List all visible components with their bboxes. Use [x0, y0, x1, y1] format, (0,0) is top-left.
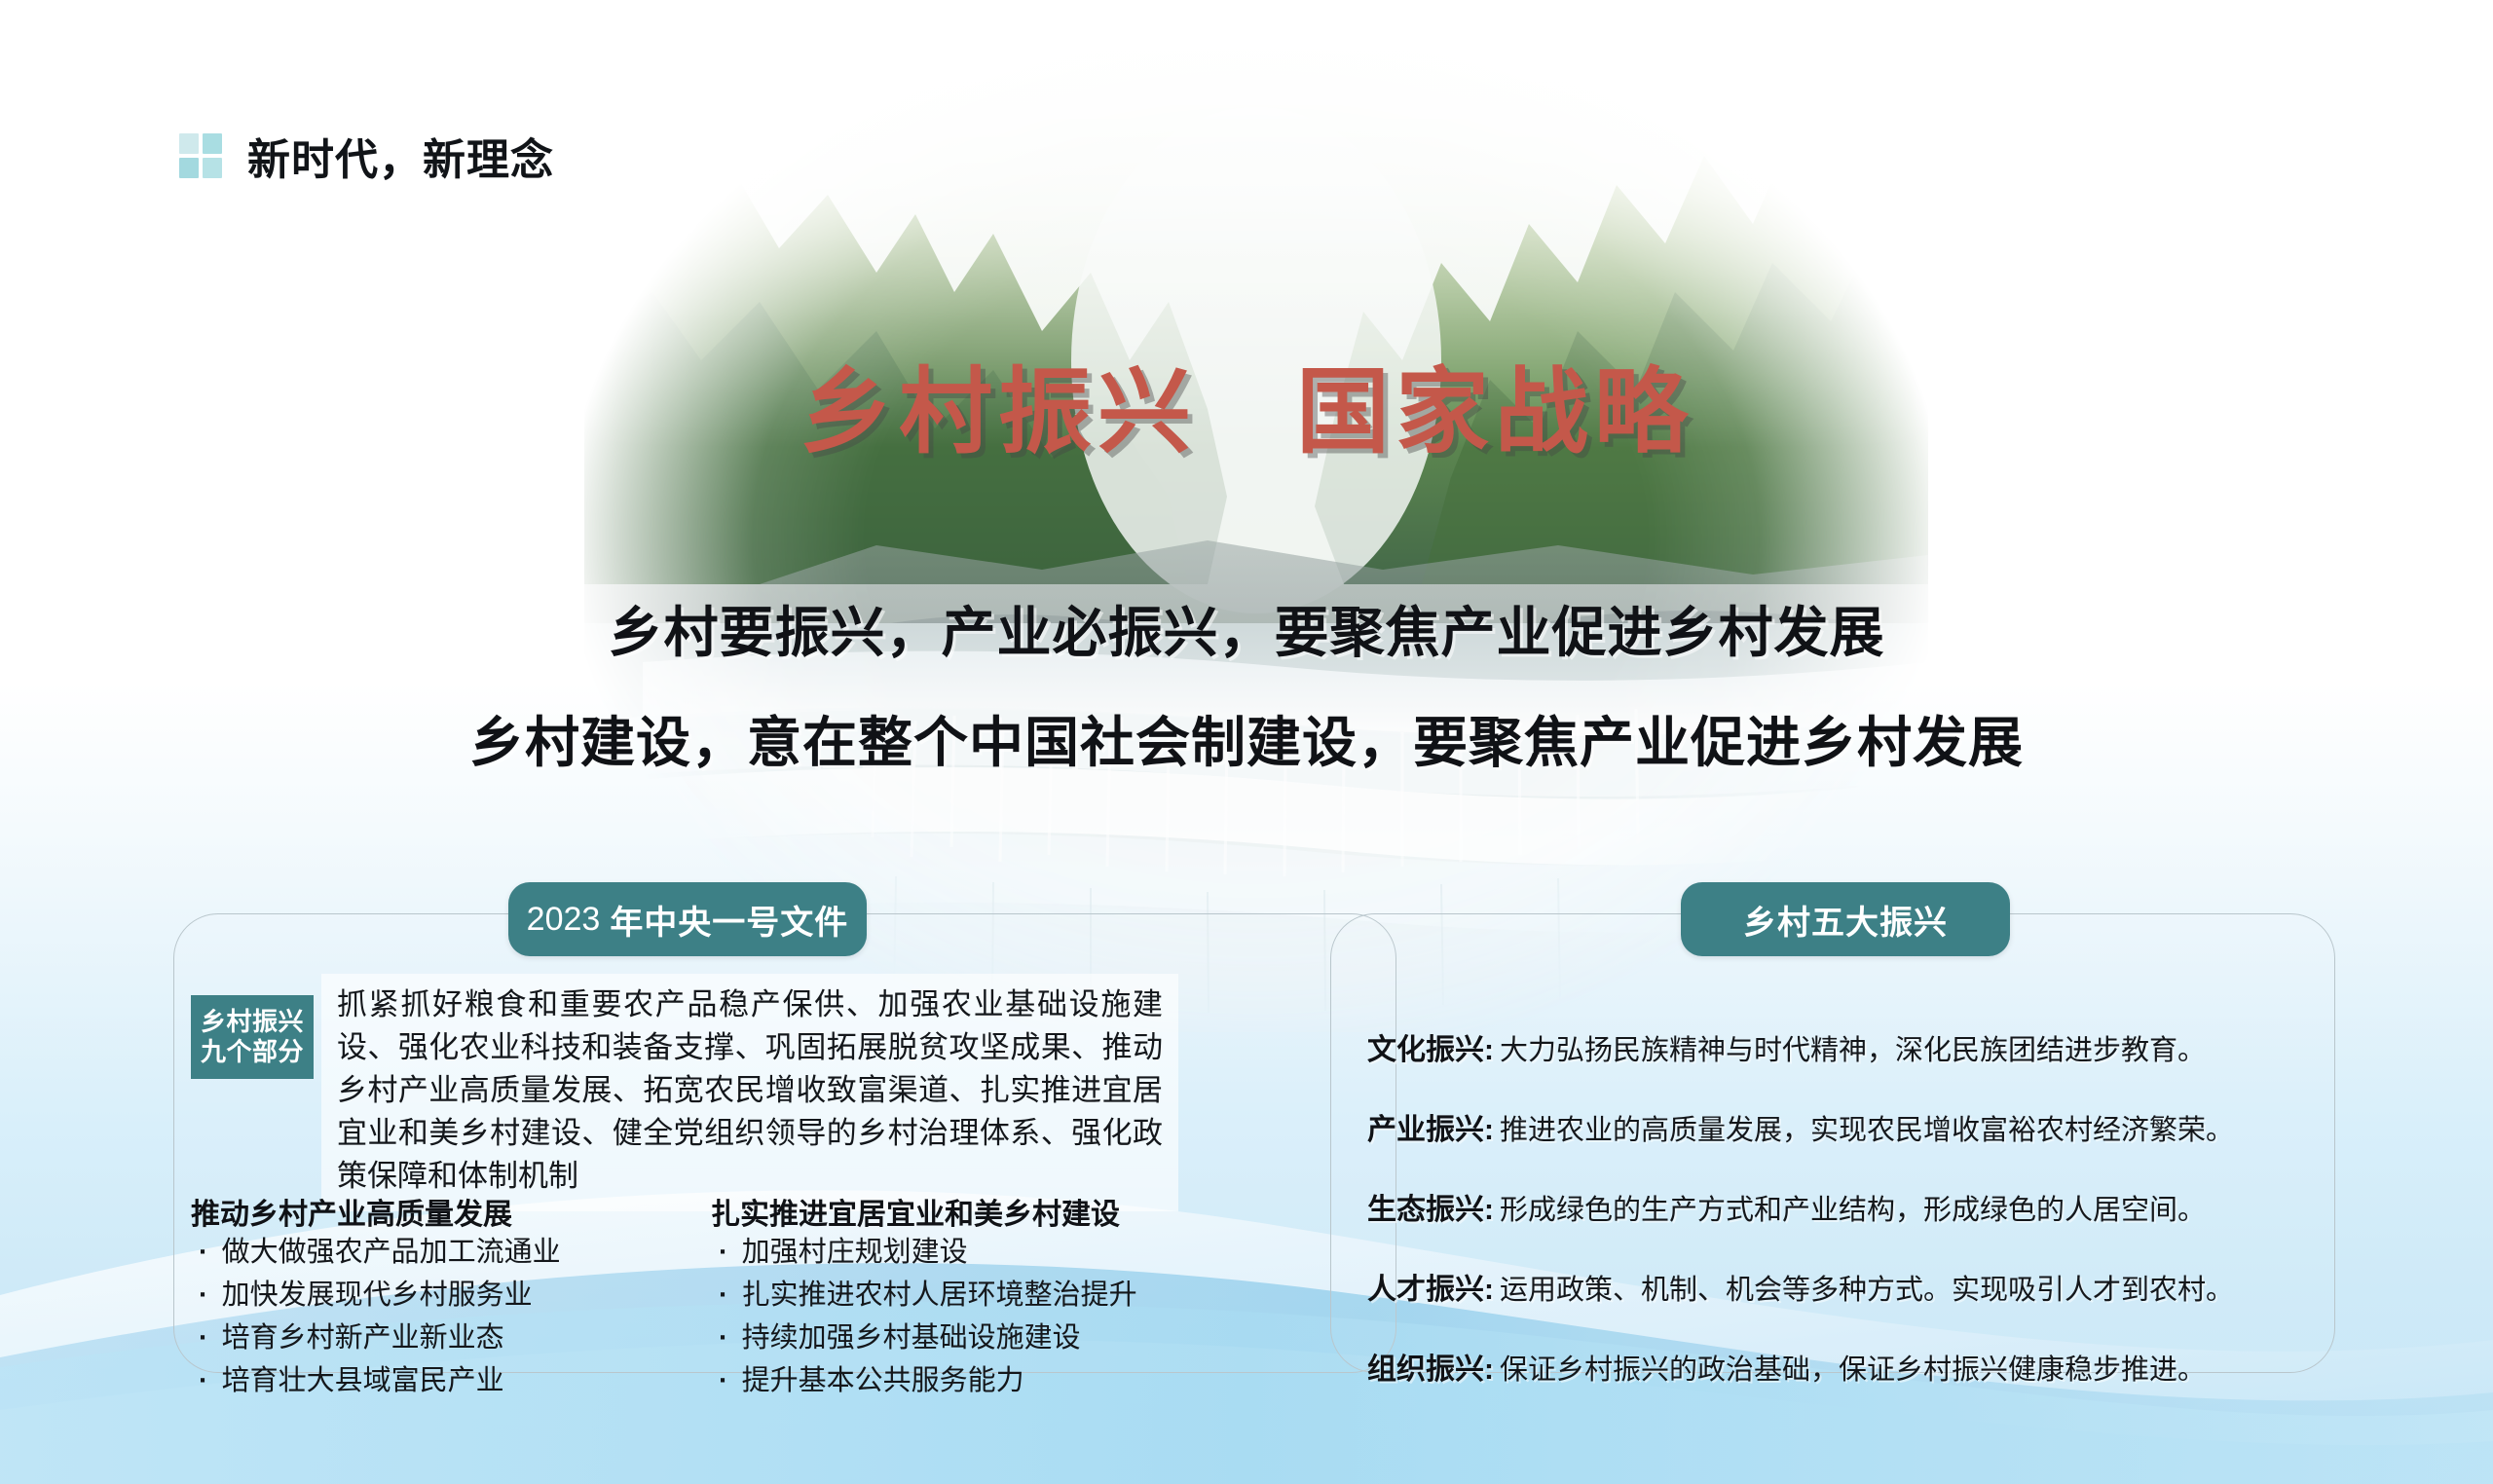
column-heading-livable: 扎实推进宜居宜业和美乡村建设	[711, 1190, 1120, 1233]
column-list-industry: 做大做强农产品加工流通业 加快发展现代乡村服务业 培育乡村新产业新业态 培育壮大…	[191, 1231, 561, 1402]
column-list-livable: 加强村庄规划建设 扎实推进农村人居环境整治提升 持续加强乡村基础设施建设 提升基…	[711, 1231, 1137, 1402]
four-squares-icon	[179, 133, 222, 178]
hero-subtitle-1: 乡村要振兴，产业必振兴，要聚焦产业促进乡村发展	[0, 589, 2493, 668]
badge-year: 2023	[527, 901, 601, 939]
revitalization-value: 推进农业的高质量发展，实现农民增收富裕农村经济繁荣。	[1500, 1107, 2234, 1148]
list-item: 生态振兴: 形成绿色的生产方式和产业结构，形成绿色的人居空间。	[1367, 1185, 2302, 1228]
revitalization-key: 文化振兴:	[1367, 1025, 1494, 1068]
hero-subtitle-2: 乡村建设，意在整个中国社会制建设，要聚焦产业促进乡村发展	[0, 699, 2493, 778]
revitalization-key: 产业振兴:	[1367, 1105, 1494, 1148]
list-item: 加强村庄规划建设	[711, 1231, 1137, 1274]
list-item: 组织振兴: 保证乡村振兴的政治基础，保证乡村振兴健康稳步推进。	[1367, 1345, 2302, 1388]
list-item: 做大做强农产品加工流通业	[191, 1231, 561, 1274]
nine-parts-tag: 乡村振兴 九个部分	[191, 995, 314, 1079]
nine-parts-line-1: 乡村振兴	[201, 1007, 304, 1037]
badge-central-document[interactable]: 2023 年中央一号文件	[508, 882, 867, 956]
revitalization-value: 形成绿色的生产方式和产业结构，形成绿色的人居空间。	[1500, 1187, 2206, 1228]
column-heading-industry: 推动乡村产业高质量发展	[191, 1190, 512, 1233]
list-item: 人才振兴: 运用政策、机制、机会等多种方式。实现吸引人才到农村。	[1367, 1265, 2302, 1308]
revitalization-key: 生态振兴:	[1367, 1185, 1494, 1228]
slide-canvas: 新时代，新理念 乡村振兴 国家战略 乡村要振兴，产业必振兴，要聚焦产业促进乡村发…	[0, 0, 2493, 1484]
list-item: 持续加强乡村基础设施建设	[711, 1317, 1137, 1359]
page-title: 乡村振兴 国家战略	[0, 336, 2493, 471]
list-item: 扎实推进农村人居环境整治提升	[711, 1274, 1137, 1317]
document-text-block: 抓紧抓好粮食和重要农产品稳产保供、加强农业基础设施建设、强化农业科技和装备支撑、…	[321, 974, 1178, 1211]
badge-five-revitalizations[interactable]: 乡村五大振兴	[1681, 882, 2010, 956]
list-item: 产业振兴: 推进农业的高质量发展，实现农民增收富裕农村经济繁荣。	[1367, 1105, 2302, 1148]
list-item: 提升基本公共服务能力	[711, 1359, 1137, 1402]
document-text: 抓紧抓好粮食和重要农产品稳产保供、加强农业基础设施建设、强化农业科技和装备支撑、…	[337, 983, 1163, 1198]
revitalization-key: 组织振兴:	[1367, 1345, 1494, 1388]
revitalization-list: 文化振兴: 大力弘扬民族精神与时代精神，深化民族团结进步教育。 产业振兴: 推进…	[1367, 1025, 2302, 1388]
slide-header: 新时代，新理念	[179, 125, 554, 187]
list-item: 培育乡村新产业新业态	[191, 1317, 561, 1359]
revitalization-value: 保证乡村振兴的政治基础，保证乡村振兴健康稳步推进。	[1500, 1347, 2206, 1388]
badge-label: 年中央一号文件	[610, 896, 848, 944]
badge-label: 乡村五大振兴	[1743, 896, 1948, 944]
list-item: 加快发展现代乡村服务业	[191, 1274, 561, 1317]
revitalization-value: 大力弘扬民族精神与时代精神，深化民族团结进步教育。	[1500, 1027, 2206, 1068]
revitalization-value: 运用政策、机制、机会等多种方式。实现吸引人才到农村。	[1500, 1267, 2234, 1308]
list-item: 文化振兴: 大力弘扬民族精神与时代精神，深化民族团结进步教育。	[1367, 1025, 2302, 1068]
header-title: 新时代，新理念	[247, 125, 554, 187]
nine-parts-line-2: 九个部分	[201, 1037, 304, 1067]
list-item: 培育壮大县域富民产业	[191, 1359, 561, 1402]
revitalization-key: 人才振兴:	[1367, 1265, 1494, 1308]
